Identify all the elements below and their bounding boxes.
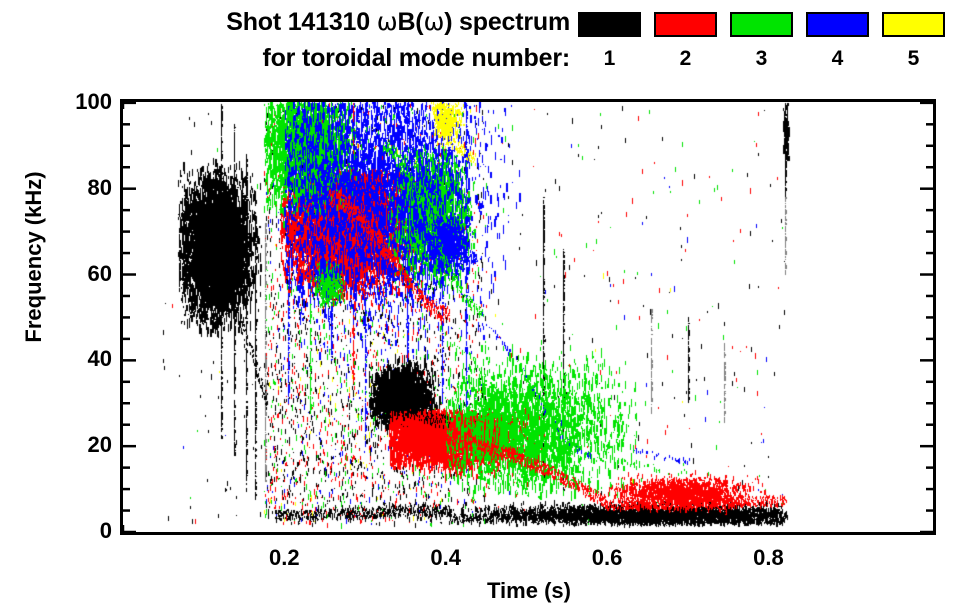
- x-tick-label: 0.8: [728, 545, 808, 571]
- x-tick-label: 0.6: [567, 545, 647, 571]
- x-tick-label: 0.4: [406, 545, 486, 571]
- x-axis-label: Time (s): [122, 578, 936, 604]
- spectrogram-figure: Shot 141310 ωB(ω) spectrum for toroidal …: [0, 0, 963, 615]
- x-tick-labels: 0.20.40.60.8: [0, 0, 963, 615]
- x-tick-label: 0.2: [244, 545, 324, 571]
